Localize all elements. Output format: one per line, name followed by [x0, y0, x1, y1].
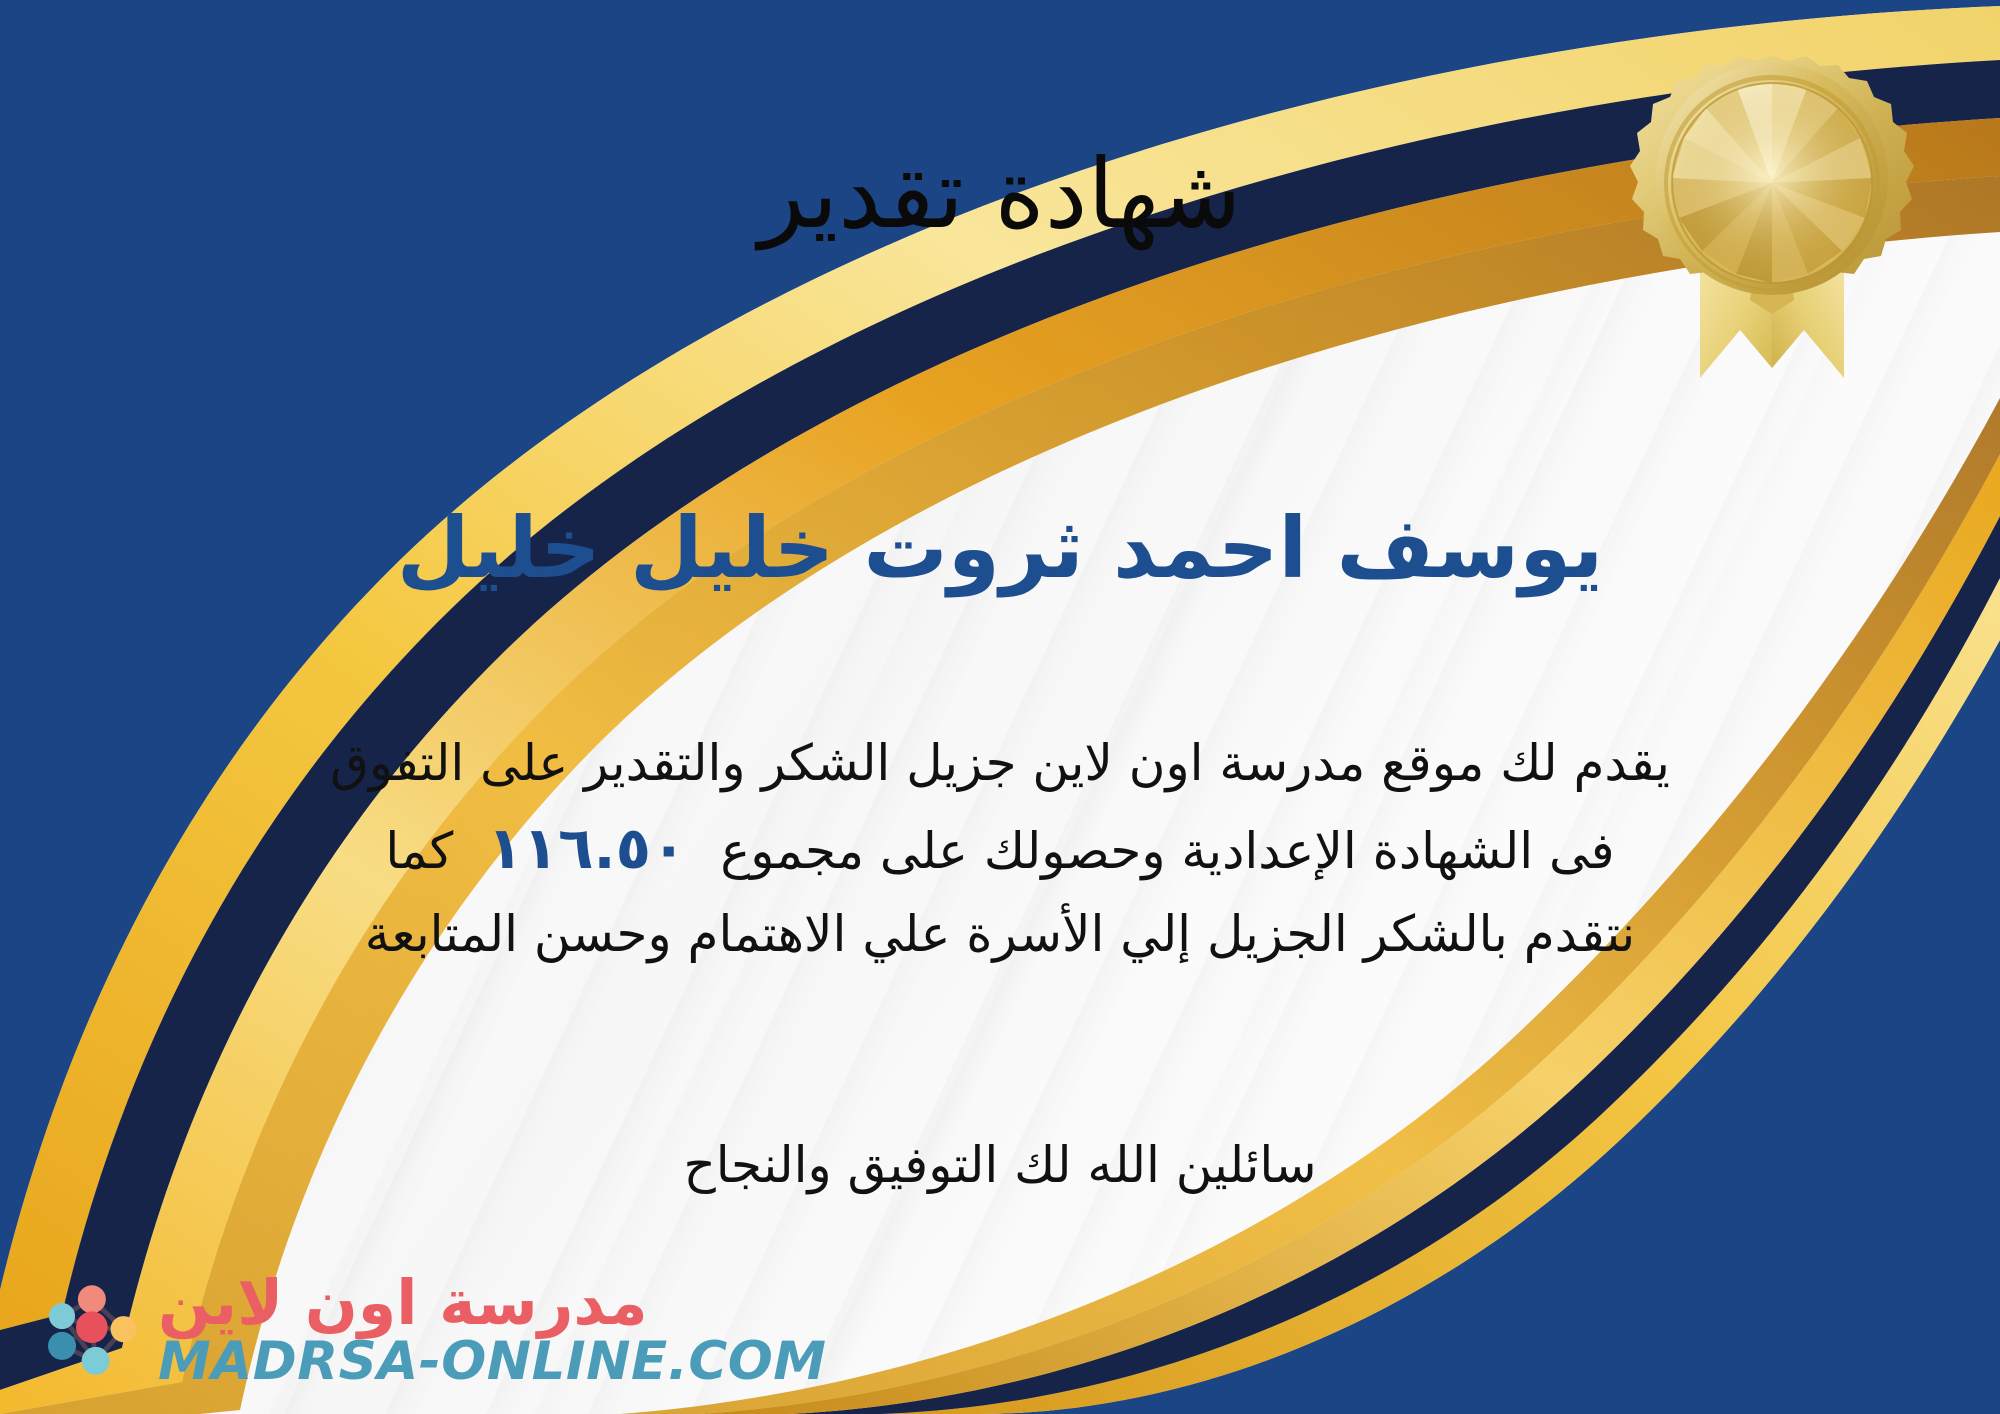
body-line-3: نتقدم بالشكر الجزيل إلي الأسرة علي الاهت… — [60, 901, 1940, 967]
certificate-content: شهادة تقدير يوسف احمد ثروت خليل خليل يقد… — [0, 0, 2000, 1414]
certificate-canvas: شهادة تقدير يوسف احمد ثروت خليل خليل يقد… — [0, 0, 2000, 1414]
brand-wordmark: مدرسة اون لاين MADRSA-ONLINE.COM — [158, 1271, 827, 1390]
page-title: شهادة تقدير — [0, 138, 2000, 251]
brand-name-arabic: مدرسة اون لاين — [158, 1271, 648, 1334]
brand-logo[interactable]: مدرسة اون لاين MADRSA-ONLINE.COM — [34, 1271, 827, 1390]
body-line-2-suffix: كما — [385, 822, 453, 880]
network-nodes-icon — [34, 1275, 146, 1387]
recipient-name: يوسف احمد ثروت خليل خليل — [0, 498, 2000, 599]
body-line-1: يقدم لك موقع مدرسة اون لاين جزيل الشكر و… — [60, 730, 1940, 796]
closing-wish: سائلين الله لك التوفيق والنجاح — [0, 1133, 2000, 1198]
total-score-value: ١١٦.٥٠ — [453, 814, 720, 882]
body-line-2-prefix: فى الشهادة الإعدادية وحصولك على مجموع — [720, 822, 1614, 880]
brand-website: MADRSA-ONLINE.COM — [158, 1334, 827, 1390]
body-line-2: فى الشهادة الإعدادية وحصولك على مجموع١١٦… — [60, 810, 1940, 887]
certificate-body: يقدم لك موقع مدرسة اون لاين جزيل الشكر و… — [60, 730, 1940, 981]
